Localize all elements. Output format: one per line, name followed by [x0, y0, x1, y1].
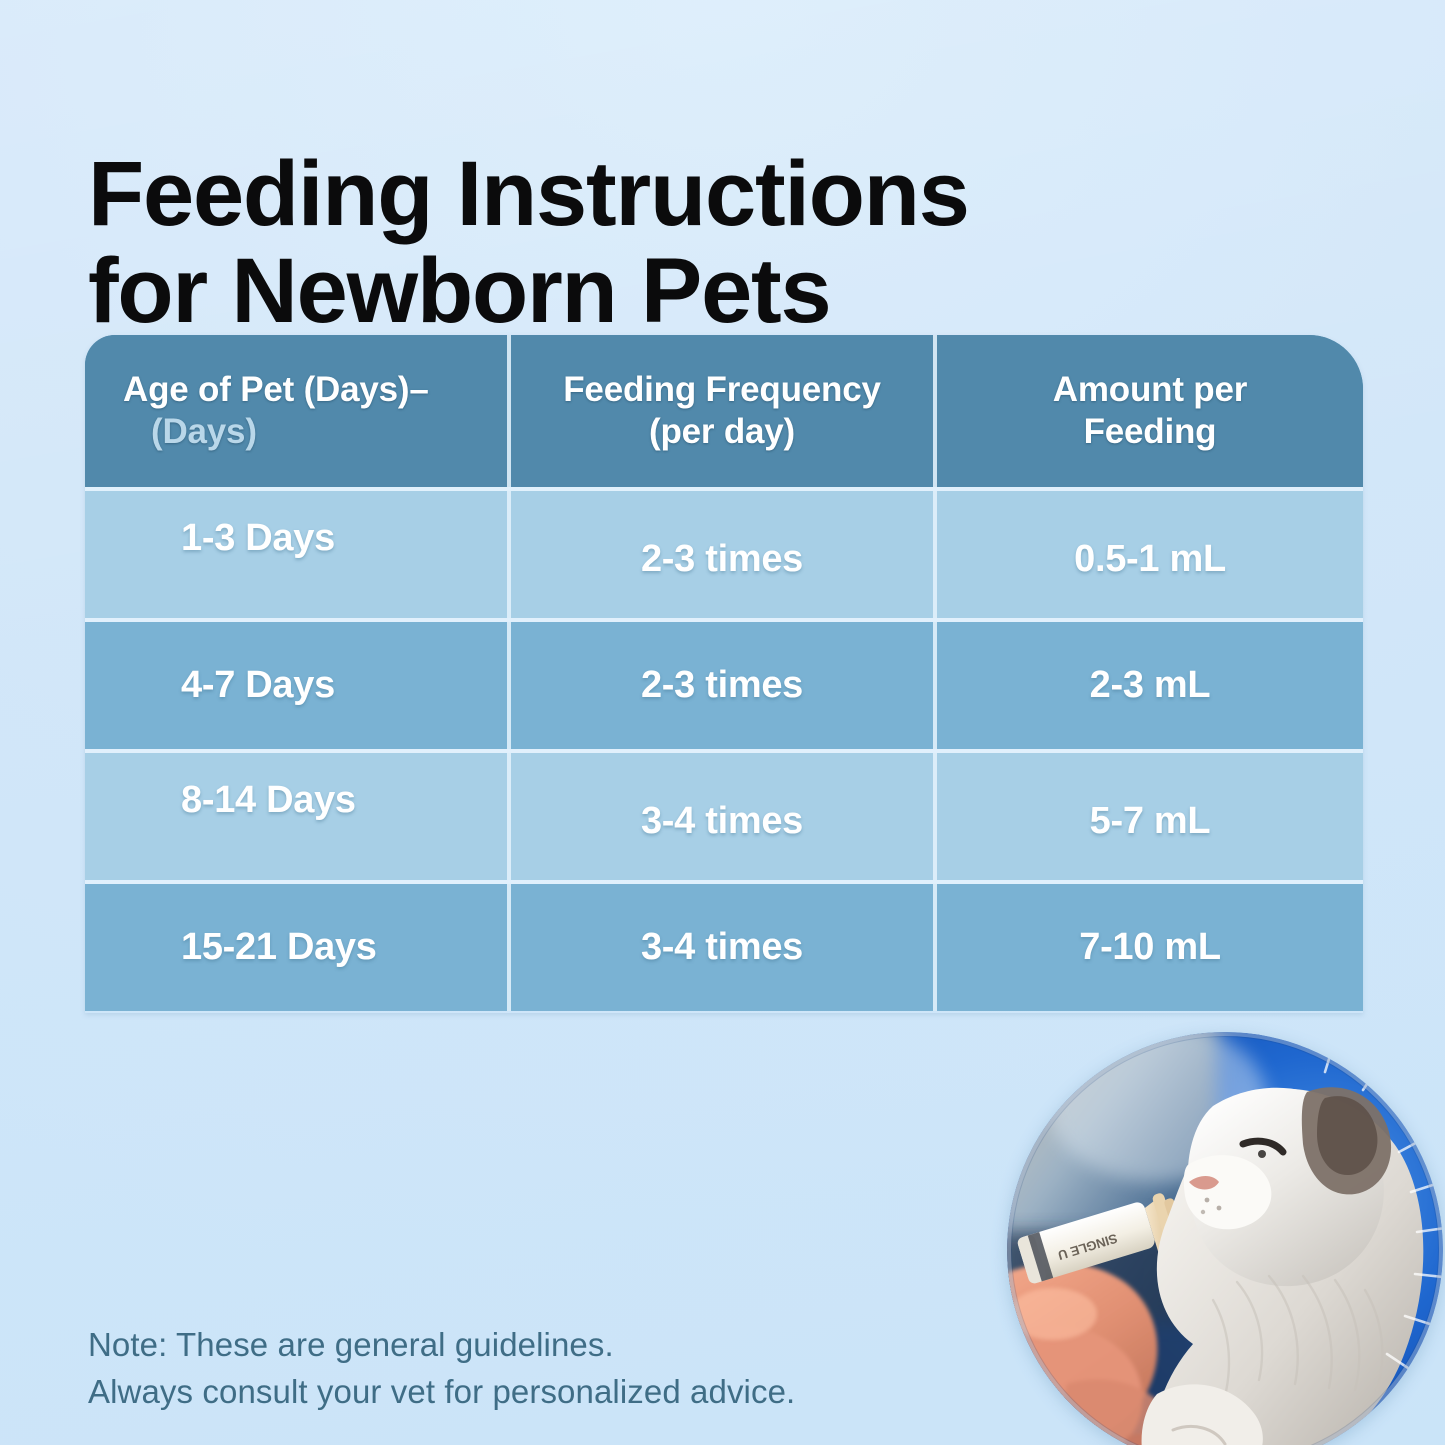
column-header-amount: Amount per Feeding — [933, 335, 1363, 487]
column-header-frequency-main: Feeding Frequency — [563, 369, 881, 411]
cell-age: 15-21 Days — [85, 884, 507, 1011]
note-text: Note: These are general guidelines. Alwa… — [88, 1322, 795, 1416]
cell-frequency: 2-3 times — [507, 622, 933, 749]
cell-age: 4-7 Days — [85, 622, 507, 749]
column-header-age-sub: (Days) — [123, 411, 257, 453]
cell-frequency: 3-4 times — [507, 753, 933, 880]
note-line-2: Always consult your vet for personalized… — [88, 1369, 795, 1416]
cell-amount: 2-3 mL — [933, 622, 1363, 749]
cell-age: 1-3 Days — [85, 491, 507, 618]
table-row: 8-14 Days 3-4 times 5-7 mL — [85, 749, 1363, 880]
title-line-1: Feeding Instructions — [88, 143, 969, 245]
column-header-amount-main: Amount per — [1053, 369, 1247, 411]
column-header-amount-sub: Feeding — [1053, 411, 1247, 453]
cell-amount: 7-10 mL — [933, 884, 1363, 1011]
column-header-frequency-sub: (per day) — [563, 411, 881, 453]
page-title: Feeding Instructions for Newborn Pets — [88, 146, 1208, 341]
cell-frequency: 2-3 times — [507, 491, 933, 618]
table-row: 4-7 Days 2-3 times 2-3 mL — [85, 618, 1363, 749]
note-line-1: Note: These are general guidelines. — [88, 1322, 795, 1369]
cell-frequency: 3-4 times — [507, 884, 933, 1011]
cell-amount: 0.5-1 mL — [933, 491, 1363, 618]
cell-age: 8-14 Days — [85, 753, 507, 880]
feeding-schedule-table: Age of Pet (Days)– (Days) Feeding Freque… — [85, 335, 1363, 1013]
column-header-frequency: Feeding Frequency (per day) — [507, 335, 933, 487]
cell-amount: 5-7 mL — [933, 753, 1363, 880]
column-header-age: Age of Pet (Days)– (Days) — [85, 335, 507, 487]
table-row: 1-3 Days 2-3 times 0.5-1 mL — [85, 487, 1363, 618]
infographic-poster: Feeding Instructions for Newborn Pets Ag… — [0, 0, 1445, 1445]
table-header-row: Age of Pet (Days)– (Days) Feeding Freque… — [85, 335, 1363, 487]
table-row: 15-21 Days 3-4 times 7-10 mL — [85, 880, 1363, 1011]
column-header-age-main: Age of Pet (Days)– — [123, 369, 429, 411]
kitten-feeding-photo: SINGLE U — [1007, 1032, 1443, 1445]
title-line-2: for Newborn Pets — [88, 243, 1208, 341]
